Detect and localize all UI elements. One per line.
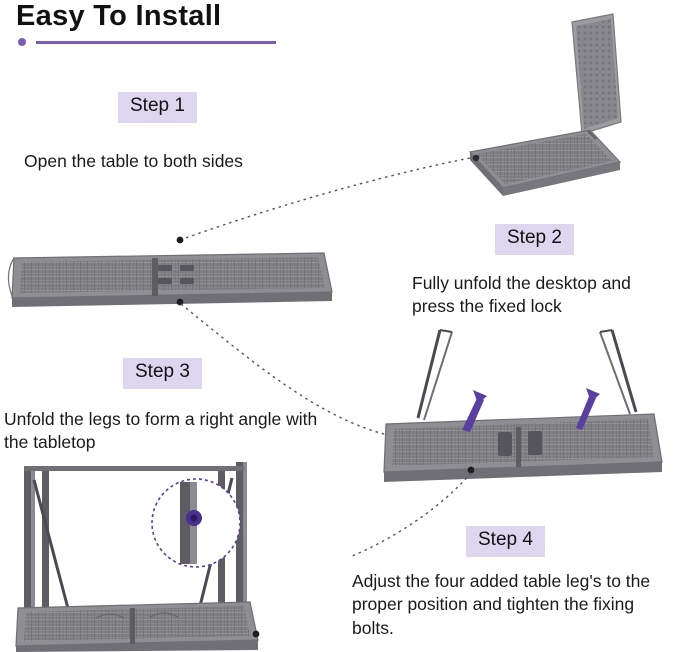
step-2-badge: Step 2	[495, 224, 574, 255]
step-1-badge: Step 1	[118, 92, 197, 123]
folded-table-illustration	[470, 14, 621, 196]
step-1-caption: Open the table to both sides	[24, 150, 354, 173]
connector-line-step4	[352, 473, 471, 556]
step-4-caption: Adjust the four added table leg's to the…	[352, 570, 670, 640]
illustration-layer	[0, 0, 679, 652]
step-3-caption: Unfold the legs to form a right angle wi…	[4, 408, 344, 455]
lock-detail-illustration	[152, 479, 240, 567]
opened-table-illustration	[8, 253, 332, 307]
step-2-caption: Fully unfold the desktop and press the f…	[412, 272, 674, 319]
step-4-badge: Step 4	[466, 526, 545, 557]
step-3-badge: Step 3	[123, 358, 202, 389]
connector-dot-step1-start	[177, 237, 184, 244]
infographic-page: Easy To Install	[0, 0, 679, 652]
legs-unfolded-illustration	[384, 330, 662, 482]
